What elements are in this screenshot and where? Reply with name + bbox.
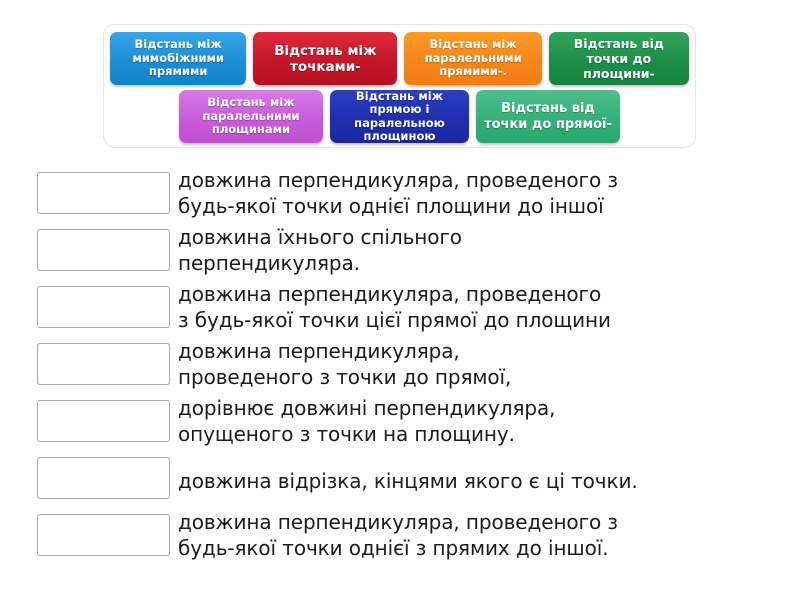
answer-row: довжина відрізка, кінцями якого є ці точ… [0,453,800,510]
tile-label: Відстань від точки до прямої- [482,101,614,133]
definition-text-6: довжина відрізка, кінцями якого є ці точ… [178,453,800,495]
drop-target-4[interactable] [37,343,170,385]
drop-target-5[interactable] [37,400,170,442]
definition-text-3: довжина перпендикуляра, проведеного з бу… [178,282,800,333]
drop-target-2[interactable] [37,229,170,271]
drop-target-1[interactable] [37,172,170,214]
tile-label: Відстань між точками- [259,43,391,75]
draggable-tile-5[interactable]: Відстань між паралельними площинами [179,90,323,143]
draggable-tile-4[interactable]: Відстань від точки до площини- [549,32,689,85]
tile-tray: Відстань між мимобіжними прямими Відстан… [103,24,696,148]
tile-label: Відстань між паралельними прямими-. [410,38,535,79]
definition-text-2: довжина їхнього спільного перпендикуляра… [178,225,800,276]
definition-text-1: довжина перпендикуляра, проведеного з бу… [178,168,800,219]
definition-text-4: довжина перпендикуляра, проведеного з то… [178,339,800,390]
tile-tray-row-2: Відстань між паралельними площинами Відс… [110,90,689,143]
definition-text-5: дорівнює довжині перпендикуляра, опущено… [178,396,800,447]
answer-row: довжина їхнього спільного перпендикуляра… [0,225,800,282]
answer-row: довжина перпендикуляра, проведеного з бу… [0,510,800,567]
draggable-tile-1[interactable]: Відстань між мимобіжними прямими [110,32,246,85]
drop-target-7[interactable] [37,514,170,556]
draggable-tile-3[interactable]: Відстань між паралельними прямими-. [404,32,541,85]
definition-text-7: довжина перпендикуляра, проведеного з бу… [178,510,800,561]
draggable-tile-7[interactable]: Відстань від точки до прямої- [476,90,620,143]
tile-label: Відстань між прямою і паралельною площин… [336,90,463,144]
activity-stage: Відстань між мимобіжними прямими Відстан… [0,0,800,600]
answer-row: довжина перпендикуляра, проведеного з то… [0,339,800,396]
drop-target-6[interactable] [37,457,170,499]
tile-label: Відстань від точки до площини- [555,36,683,81]
answer-row: довжина перпендикуляра, проведеного з бу… [0,168,800,225]
tile-label: Відстань між мимобіжними прямими [116,38,240,79]
tile-tray-row-1: Відстань між мимобіжними прямими Відстан… [110,32,689,85]
draggable-tile-6[interactable]: Відстань між прямою і паралельною площин… [330,90,469,143]
tile-label: Відстань між паралельними площинами [185,96,317,137]
draggable-tile-2[interactable]: Відстань між точками- [253,32,397,85]
answer-row: довжина перпендикуляра, проведеного з бу… [0,282,800,339]
answer-rows: довжина перпендикуляра, проведеного з бу… [0,168,800,567]
answer-row: дорівнює довжині перпендикуляра, опущено… [0,396,800,453]
drop-target-3[interactable] [37,286,170,328]
